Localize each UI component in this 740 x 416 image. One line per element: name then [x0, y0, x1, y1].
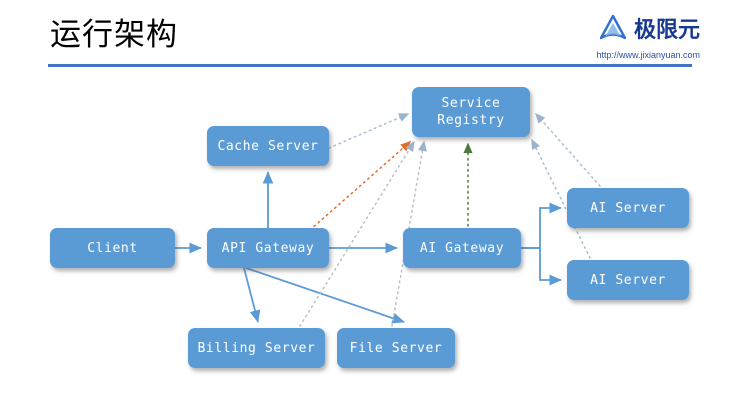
node-cache-server[interactable]: Cache Server: [207, 126, 329, 166]
edge-ai-gateway-to-ai-server-top: [521, 208, 561, 248]
architecture-diagram: Client API Gateway Cache Server Service …: [0, 70, 740, 416]
edge-cache-server-to-service-registry: [329, 114, 408, 148]
page-title: 运行架构: [50, 14, 178, 56]
node-client[interactable]: Client: [50, 228, 175, 268]
node-file-server[interactable]: File Server: [337, 328, 455, 368]
edge-api-gateway-to-file-server: [246, 268, 404, 322]
node-ai-gateway[interactable]: AI Gateway: [403, 228, 521, 268]
edge-api-gateway-to-billing-server: [244, 268, 258, 322]
edge-ai-gateway-to-ai-server-bottom: [521, 248, 561, 280]
node-billing-server[interactable]: Billing Server: [188, 328, 325, 368]
slide-root: 运行架构 极限元 http://www.jixianyuan.com: [0, 0, 740, 416]
edge-ai-server-top-to-service-registry: [536, 114, 600, 186]
node-ai-server-top[interactable]: AI Server: [567, 188, 689, 228]
brand-name: 极限元: [634, 19, 700, 43]
title-divider: [48, 64, 692, 67]
brand-url[interactable]: http://www.jixianyuan.com: [596, 50, 700, 61]
node-api-gateway[interactable]: API Gateway: [207, 228, 329, 268]
brand-logo-block: 极限元 http://www.jixianyuan.com: [596, 14, 700, 61]
node-service-registry[interactable]: Service Registry: [412, 87, 530, 137]
triangle-droplet-logo-icon: [598, 14, 628, 47]
node-ai-server-bottom[interactable]: AI Server: [567, 260, 689, 300]
